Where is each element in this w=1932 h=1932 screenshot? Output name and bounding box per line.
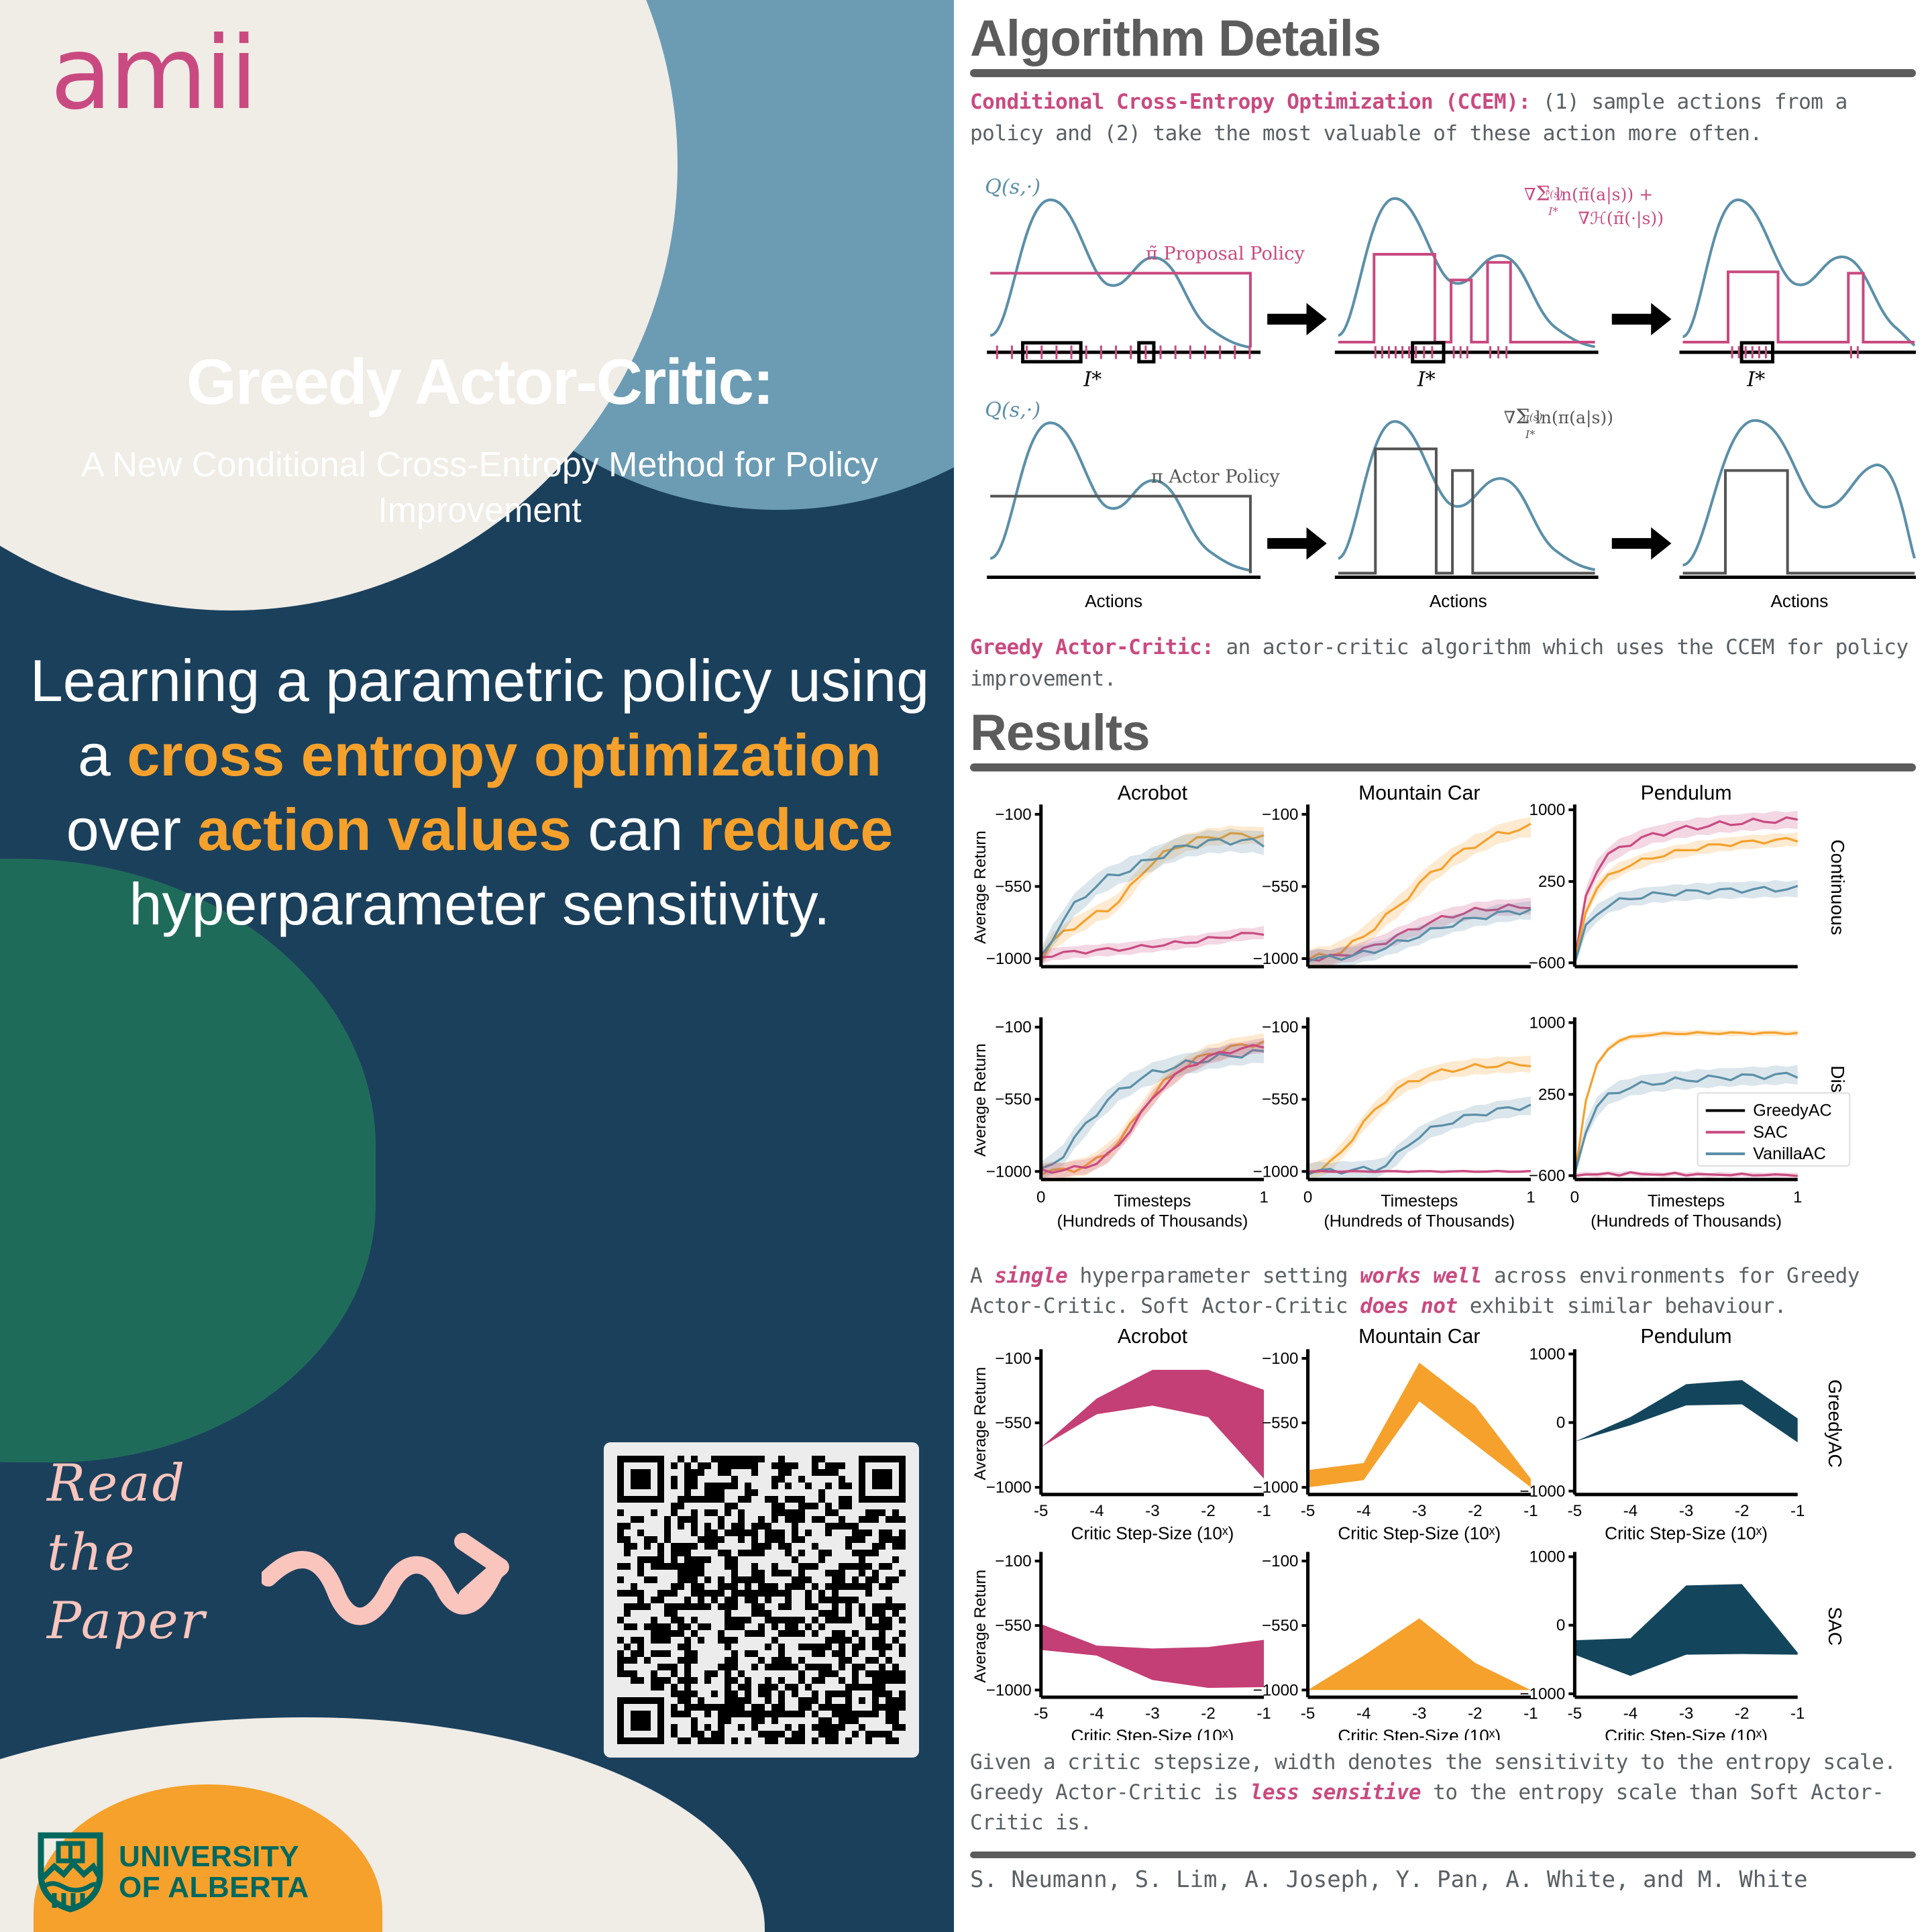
svg-text:Critic Step-Size (10ˣ): Critic Step-Size (10ˣ) [1338,1725,1501,1740]
svg-text:SAC: SAC [1753,1123,1788,1142]
svg-text:−1000: −1000 [986,950,1032,968]
text-run-4: can [572,796,700,863]
svg-text:π Actor Policy: π Actor Policy [1151,466,1280,487]
svg-text:∇Σ ln(π̃(a|s)) +: ∇Σ ln(π̃(a|s)) + [1524,182,1653,206]
results-caption-sensitivity: Given a critic stepsize, width denotes t… [970,1748,1916,1838]
svg-text:∇Σ ln(π(a|s)): ∇Σ ln(π(a|s)) [1504,405,1613,429]
svg-text:-2: -2 [1201,1705,1215,1723]
squiggly-arrow-icon [262,1529,530,1657]
svg-text:−550: −550 [995,1091,1031,1109]
svg-text:-4: -4 [1089,1705,1104,1723]
svg-text:−1000: −1000 [986,1163,1032,1181]
svg-text:ᵖ̃(s): ᵖ̃(s) [1546,188,1563,200]
svg-text:−100: −100 [995,1552,1031,1570]
svg-text:-2: -2 [1201,1502,1215,1520]
algo-row2-panel2: Actions ∇Σ ln(π(a|s)) π(s) I* [1335,405,1613,611]
svg-text:0: 0 [1570,1188,1579,1206]
svg-text:Critic Step-Size (10ˣ): Critic Step-Size (10ˣ) [1071,1725,1234,1740]
svg-text:1: 1 [1259,1188,1268,1206]
decorative-green-blob-left [0,859,376,1462]
svg-text:-5: -5 [1034,1705,1048,1723]
svg-text:Actions: Actions [1770,591,1828,611]
cta-line-3: Paper [47,1587,207,1656]
text-run-6: exhibit similar behaviour. [1458,1294,1786,1318]
svg-text:(Hundreds of Thousands): (Hundreds of Thousands) [1591,1212,1782,1231]
text-run-0: A [970,1264,994,1288]
algo-row2-panel3: Actions [1680,421,1917,611]
cta-line-2: the [47,1518,207,1587]
svg-text:π̃ Proposal Policy: π̃ Proposal Policy [1146,244,1305,264]
svg-text:−550: −550 [995,1617,1031,1635]
section-heading-algorithm: Algorithm Details [970,0,1916,68]
divider-algorithm [970,69,1916,77]
svg-text:−1000: −1000 [1253,1479,1299,1497]
right-arrow-icon-4 [1612,527,1672,559]
svg-text:Mountain Car: Mountain Car [1358,782,1480,804]
greedyac-description: Greedy Actor-Critic: an actor-critic alg… [970,632,1916,694]
svg-text:−550: −550 [995,877,1031,896]
svg-text:Timesteps: Timesteps [1381,1192,1458,1211]
svg-text:1000: 1000 [1529,1345,1566,1363]
svg-text:GreedyAC: GreedyAC [1753,1102,1831,1120]
svg-text:−550: −550 [1262,1617,1298,1635]
svg-text:−100: −100 [1262,806,1298,824]
svg-text:Actions: Actions [1085,591,1142,611]
svg-text:-5: -5 [1034,1502,1048,1520]
svg-text:-4: -4 [1623,1502,1638,1520]
svg-text:-2: -2 [1735,1502,1749,1520]
svg-text:-5: -5 [1301,1705,1315,1723]
svg-text:−550: −550 [995,1414,1031,1432]
svg-text:250: 250 [1538,1085,1565,1104]
cta-line-1: Read [47,1449,207,1518]
svg-text:−100: −100 [995,1350,1031,1368]
svg-text:Timesteps: Timesteps [1648,1192,1725,1211]
svg-text:1000: 1000 [1529,1014,1566,1032]
learning-curves-chart: Acrobot−100−550−1000Average ReturnMounta… [970,781,1916,1254]
svg-text:VanillaAC: VanillaAC [1753,1144,1826,1163]
svg-text:Average Return: Average Return [971,1043,989,1157]
svg-text:-1: -1 [1523,1705,1538,1723]
divider-results [970,763,1916,771]
text-run-3: action values [197,796,572,863]
svg-text:I*: I* [1083,368,1102,391]
algorithm-figure: Q(s,·) π̃ Proposal Policy I* [970,153,1916,626]
svg-text:−1000: −1000 [986,1479,1032,1497]
svg-text:−1000: −1000 [1253,1681,1299,1699]
text-run-1: single [994,1264,1067,1288]
svg-text:−1000: −1000 [1519,1483,1565,1501]
svg-text:π(s): π(s) [1522,411,1543,423]
page-subtitle: A New Conditional Cross-Entropy Method f… [40,443,919,533]
svg-text:-5: -5 [1568,1705,1582,1723]
read-the-paper-label: Read the Paper [47,1449,207,1656]
svg-text:-2: -2 [1468,1502,1482,1520]
svg-text:−1000: −1000 [1519,1685,1565,1703]
svg-text:Average Return: Average Return [971,1367,989,1481]
svg-text:-3: -3 [1412,1502,1426,1520]
svg-text:-2: -2 [1468,1705,1482,1723]
svg-text:−550: −550 [1262,1414,1298,1432]
svg-text:Mountain Car: Mountain Car [1358,1326,1480,1348]
svg-text:∇ℋ(π̃(·|s)): ∇ℋ(π̃(·|s)) [1578,209,1664,229]
section-heading-results: Results [970,694,1916,762]
algo-row1-panel3: I* [1680,200,1917,392]
svg-text:Pendulum: Pendulum [1641,1326,1732,1348]
right-panel: Algorithm Details Conditional Cross-Entr… [954,0,1932,1932]
svg-text:Pendulum: Pendulum [1641,782,1732,804]
greedyac-label: Greedy Actor-Critic: [970,635,1214,659]
algo-row1-panel2: I* ∇Σ ln(π̃(a|s)) + ᵖ̃(s) I* ∇ℋ(π̃(·|s)) [1335,182,1664,392]
tagline: Learning a parametric policy using a cro… [27,644,932,942]
svg-text:-4: -4 [1623,1705,1638,1723]
text-run-1: cross entropy optimization [127,722,881,788]
divider-authors [970,1851,1916,1858]
svg-text:Actions: Actions [1430,591,1487,611]
svg-text:Critic Step-Size (10ˣ): Critic Step-Size (10ˣ) [1605,1725,1768,1740]
text-run-5: reduce [700,796,894,863]
svg-text:-3: -3 [1145,1705,1159,1723]
svg-text:(Hundreds of Thousands): (Hundreds of Thousands) [1324,1212,1515,1231]
svg-text:Critic Step-Size (10ˣ): Critic Step-Size (10ˣ) [1605,1523,1768,1543]
svg-text:-4: -4 [1356,1502,1371,1520]
svg-text:Acrobot: Acrobot [1118,1326,1188,1348]
text-run-5: does not [1360,1294,1457,1318]
svg-text:I*: I* [1548,205,1558,218]
text-run-2: over [66,796,198,863]
poster-root: amii Greedy Actor-Critic: A New Conditio… [0,0,1932,1932]
svg-text:Timesteps: Timesteps [1114,1192,1191,1211]
svg-text:0: 0 [1036,1188,1045,1206]
text-run-6: hyperparameter sensitivity. [129,871,830,937]
svg-text:-1: -1 [1256,1705,1271,1723]
svg-text:Average Return: Average Return [971,1570,989,1683]
svg-text:−100: −100 [995,806,1031,824]
shield-crest-icon [37,1831,104,1913]
svg-text:-5: -5 [1301,1502,1315,1520]
svg-text:I*: I* [1525,428,1535,441]
svg-text:0: 0 [1303,1188,1312,1206]
svg-text:Critic Step-Size (10ˣ): Critic Step-Size (10ˣ) [1338,1523,1501,1543]
right-arrow-icon [1267,303,1327,335]
svg-text:−100: −100 [1262,1350,1298,1368]
svg-text:GreedyAC: GreedyAC [1825,1379,1846,1468]
right-arrow-icon-2 [1612,303,1672,335]
svg-text:0: 0 [1556,1413,1565,1432]
svg-text:-1: -1 [1523,1502,1538,1520]
algo-row2-panel1: Q(s,·) π Actor Policy Actions [985,398,1280,611]
svg-text:I*: I* [1417,368,1436,391]
page-title: Greedy Actor-Critic: [40,349,919,417]
svg-text:I*: I* [1746,368,1765,391]
svg-text:Average Return: Average Return [971,830,989,944]
authors-list: S. Neumann, S. Lim, A. Joseph, Y. Pan, A… [970,1866,1916,1893]
text-run-2: hyperparameter setting [1067,1264,1360,1288]
svg-text:-1: -1 [1790,1705,1805,1723]
svg-text:-1: -1 [1256,1502,1271,1520]
svg-text:−1000: −1000 [1253,1163,1299,1181]
svg-text:Critic Step-Size (10ˣ): Critic Step-Size (10ˣ) [1071,1523,1234,1543]
sensitivity-chart: Acrobot−100−550−1000-5-4-3-2-1Average Re… [970,1322,1916,1740]
svg-text:0: 0 [1556,1617,1565,1635]
algo-row1-panel1: Q(s,·) π̃ Proposal Policy I* [985,175,1305,391]
ccem-description: Conditional Cross-Entropy Optimization (… [970,87,1916,149]
svg-text:−1000: −1000 [986,1681,1032,1699]
svg-text:250: 250 [1538,873,1565,891]
svg-text:1: 1 [1793,1188,1802,1206]
svg-text:-3: -3 [1679,1705,1693,1723]
svg-text:(Hundreds of Thousands): (Hundreds of Thousands) [1057,1212,1248,1231]
ccem-label: Conditional Cross-Entropy Optimization (… [970,90,1531,114]
text-run-3: works well [1360,1264,1482,1288]
university-of-alberta-logo: UNIVERSITY OF ALBERTA [37,1831,309,1913]
svg-text:1000: 1000 [1529,801,1566,819]
university-name: UNIVERSITY OF ALBERTA [119,1841,309,1903]
svg-text:SAC: SAC [1825,1607,1846,1646]
amii-logo: amii [50,23,255,124]
svg-text:−100: −100 [1262,1018,1298,1036]
svg-text:Acrobot: Acrobot [1118,782,1188,804]
svg-text:Q(s,·): Q(s,·) [985,175,1040,199]
svg-text:−100: −100 [1262,1552,1298,1570]
svg-text:Q(s,·): Q(s,·) [985,398,1040,422]
affiliation-line-2: OF ALBERTA [119,1872,309,1903]
svg-text:−550: −550 [1262,1091,1298,1109]
svg-text:-3: -3 [1412,1705,1426,1723]
svg-text:-4: -4 [1356,1705,1371,1723]
qr-code[interactable] [604,1442,919,1758]
svg-text:−600: −600 [1529,954,1565,972]
svg-text:-2: -2 [1735,1705,1749,1723]
right-arrow-icon-3 [1267,527,1327,559]
svg-text:-5: -5 [1568,1502,1582,1520]
results-caption-learning: A single hyperparameter setting works we… [970,1261,1916,1322]
left-panel: amii Greedy Actor-Critic: A New Conditio… [0,0,954,1932]
svg-text:−600: −600 [1529,1167,1565,1185]
svg-text:-3: -3 [1679,1502,1693,1520]
svg-text:−1000: −1000 [1253,950,1299,968]
svg-text:-4: -4 [1089,1502,1104,1520]
text-run-1: less sensitive [1250,1780,1421,1805]
svg-text:Continuous: Continuous [1827,839,1849,935]
svg-text:−100: −100 [995,1018,1031,1036]
svg-text:-1: -1 [1790,1502,1805,1520]
svg-text:−550: −550 [1262,877,1298,896]
svg-text:1: 1 [1526,1188,1535,1206]
affiliation-line-1: UNIVERSITY [119,1841,309,1872]
svg-text:-3: -3 [1145,1502,1159,1520]
svg-text:1000: 1000 [1529,1548,1566,1566]
